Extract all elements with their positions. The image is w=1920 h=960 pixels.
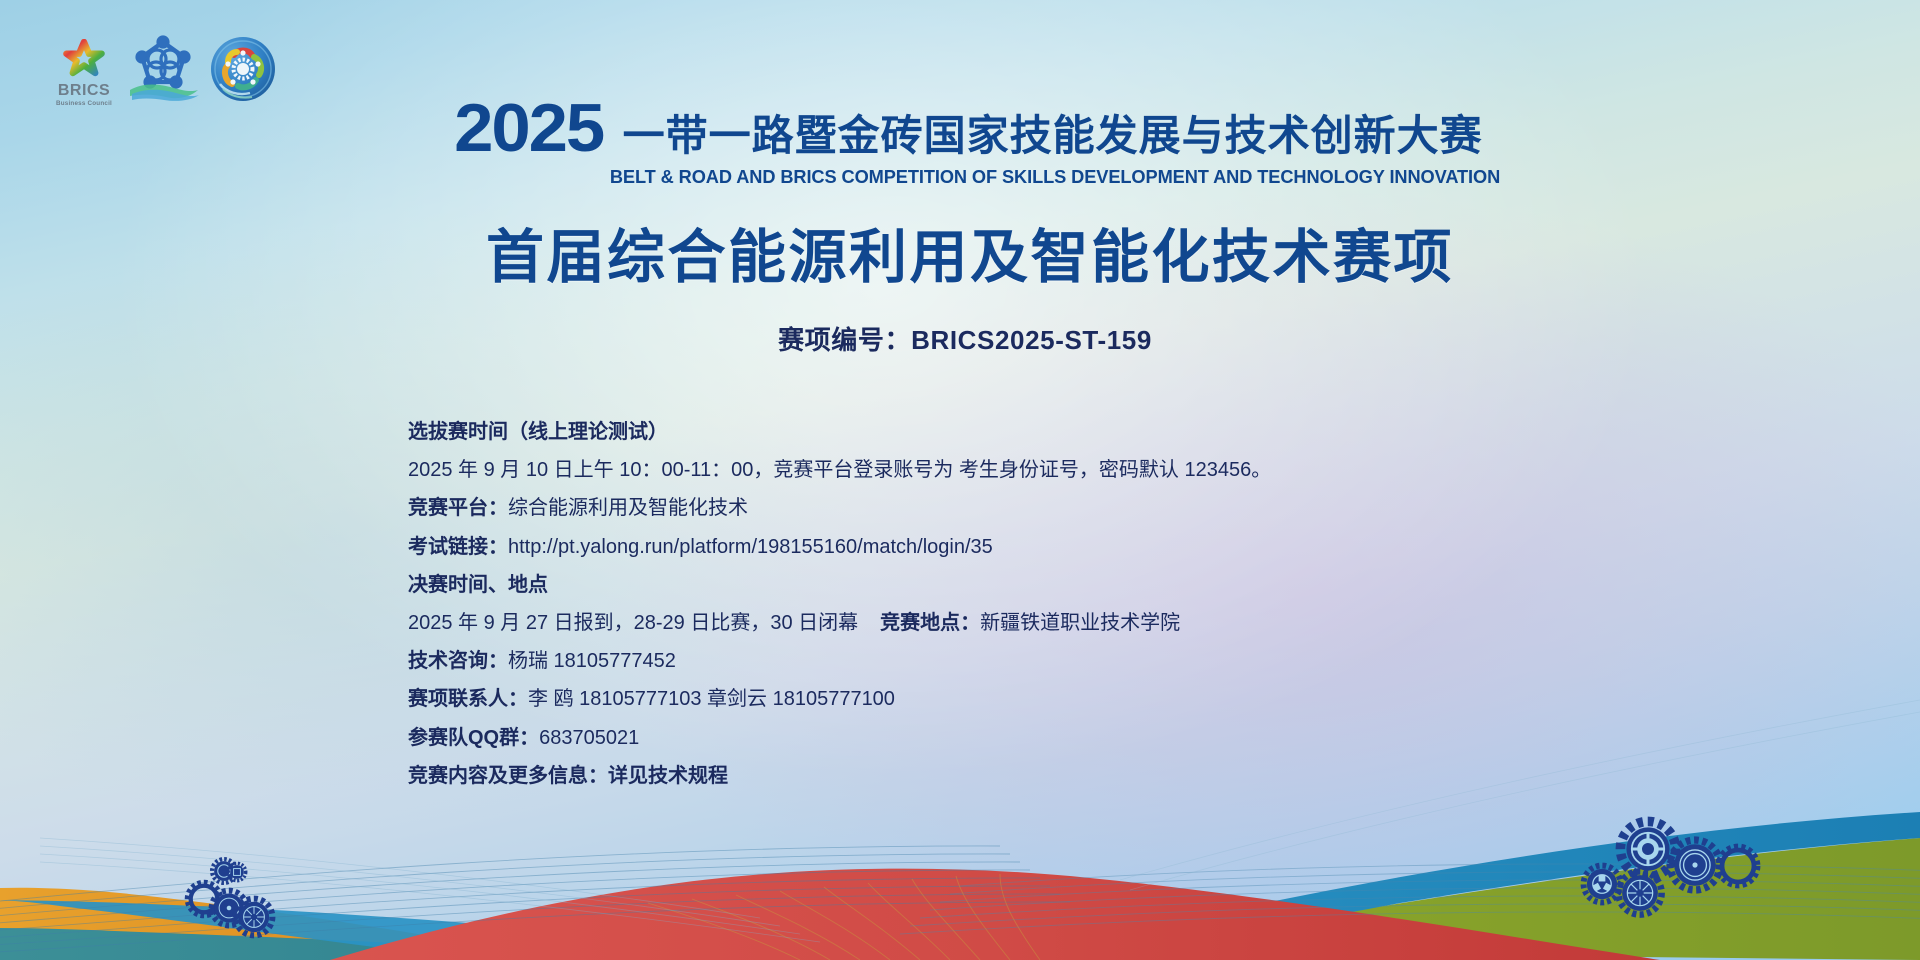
poster-canvas: BRICS Business Council xyxy=(0,0,1920,960)
more-info-label: 竞赛内容及更多信息： xyxy=(408,765,608,787)
technical-support-value: 杨瑞 18105777452 xyxy=(508,650,676,672)
technical-support-label: 技术咨询： xyxy=(408,650,508,672)
wave-teal-left xyxy=(0,928,700,960)
competition-emblem-icon xyxy=(210,36,276,102)
selection-time-heading: 选拔赛时间（线上理论测试） xyxy=(408,418,1271,447)
gear-large-right xyxy=(1584,821,1758,914)
competition-platform-label: 竞赛平台： xyxy=(408,497,508,519)
details-block: 选拔赛时间（线上理论测试）2025 年 9 月 10 日上午 10：00-11：… xyxy=(408,418,1271,800)
brics-business-council-logo: BRICS Business Council xyxy=(52,39,116,107)
exam-link-value: http://pt.yalong.run/platform/198155160/… xyxy=(508,536,993,558)
final-time-place-heading-label: 决赛时间、地点 xyxy=(408,574,548,596)
subject-code: 赛项编号：BRICS2025-ST-159 xyxy=(10,320,1920,357)
wave-green-right xyxy=(1000,838,1920,960)
more-info-value: 详见技术规程 xyxy=(608,765,728,787)
title-block: 2025 一带一路暨金砖国家技能发展与技术创新大赛 BELT & ROAD AN… xyxy=(0,96,1920,357)
qq-group-value: 683705021 xyxy=(539,727,639,749)
wave-blue-right xyxy=(930,812,1920,960)
wave-red-center xyxy=(330,869,1660,960)
final-schedule-value: 2025 年 9 月 27 日报到，28-29 日比赛，30 日闭幕 xyxy=(408,612,858,634)
brics-star-icon xyxy=(52,39,116,77)
competition-name-en: BELT & ROAD AND BRICS COMPETITION OF SKI… xyxy=(203,166,1907,188)
final-schedule-label-2: 竞赛地点： xyxy=(880,612,980,634)
selection-time-heading-label: 选拔赛时间（线上理论测试） xyxy=(408,421,668,443)
selection-time-detail-value: 2025 年 9 月 10 日上午 10：00-11：00，竞赛平台登录账号为 … xyxy=(408,459,1271,481)
brics-logo-sub-text: Business Council xyxy=(52,101,116,107)
subject-code-label: 赛项编号： xyxy=(778,325,911,355)
technical-support: 技术咨询：杨瑞 18105777452 xyxy=(408,647,1271,676)
final-schedule: 2025 年 9 月 27 日报到，28-29 日比赛，30 日闭幕竞赛地点：新… xyxy=(408,609,1271,638)
final-schedule-value-2: 新疆铁道职业技术学院 xyxy=(980,612,1180,634)
wave-blue-left xyxy=(0,900,930,960)
competition-platform: 竞赛平台：综合能源利用及智能化技术 xyxy=(408,494,1271,523)
subject-code-value: BRICS2025-ST-159 xyxy=(911,325,1152,355)
event-contacts: 赛项联系人：李 鸥 18105777103 章剑云 18105777100 xyxy=(408,685,1271,714)
exam-link-label: 考试链接： xyxy=(408,536,508,558)
year-label: 2025 xyxy=(454,96,603,161)
logo-row: BRICS Business Council xyxy=(52,34,276,107)
qq-group: 参赛队QQ群：683705021 xyxy=(408,724,1271,753)
brics-logo-main-text: BRICS xyxy=(52,83,116,99)
final-time-place-heading: 决赛时间、地点 xyxy=(408,571,1271,600)
event-contacts-value: 李 鸥 18105777103 章剑云 18105777100 xyxy=(528,688,895,710)
gear-cluster-left xyxy=(187,859,272,935)
headline-row: 2025 一带一路暨金砖国家技能发展与技术创新大赛 xyxy=(20,96,1920,161)
competition-name-cn: 一带一路暨金砖国家技能发展与技术创新大赛 xyxy=(623,114,1483,161)
belt-road-emblem-icon xyxy=(126,34,200,102)
competition-platform-value: 综合能源利用及智能化技术 xyxy=(508,497,748,519)
more-info: 竞赛内容及更多信息：详见技术规程 xyxy=(408,762,1271,791)
event-contacts-label: 赛项联系人： xyxy=(408,688,528,710)
belt-and-road-skills-logo xyxy=(126,34,200,107)
selection-time-detail: 2025 年 9 月 10 日上午 10：00-11：00，竞赛平台登录账号为 … xyxy=(408,456,1271,485)
wave-orange-left xyxy=(0,888,560,960)
exam-link: 考试链接：http://pt.yalong.run/platform/19815… xyxy=(408,533,1271,562)
subject-title: 首届综合能源利用及智能化技术赛项 xyxy=(20,210,1920,294)
competition-emblem-logo xyxy=(210,36,276,107)
qq-group-label: 参赛队QQ群： xyxy=(408,727,539,749)
